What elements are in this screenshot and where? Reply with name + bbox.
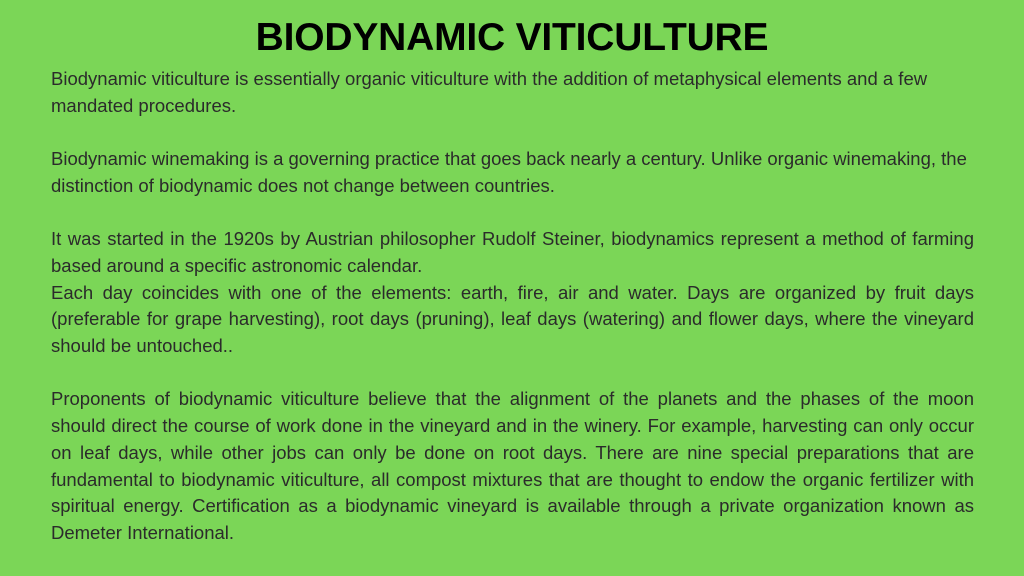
slide-body: Biodynamic viticulture is essentially or… [51, 66, 974, 547]
paragraph-spacer [51, 200, 974, 227]
paragraph-spacer [51, 360, 974, 387]
paragraph-origin: It was started in the 1920s by Austrian … [51, 226, 974, 279]
paragraph-spacer [51, 119, 974, 146]
paragraph-intro: Biodynamic viticulture is essentially or… [51, 66, 974, 119]
paragraph-governing-practice: Biodynamic winemaking is a governing pra… [51, 146, 974, 199]
page-title: BIODYNAMIC VITICULTURE [0, 16, 1024, 60]
paragraph-elements-and-days: Each day coincides with one of the eleme… [51, 280, 974, 360]
slide-canvas: BIODYNAMIC VITICULTURE Biodynamic viticu… [0, 0, 1024, 576]
paragraph-proponents: Proponents of biodynamic viticulture bel… [51, 386, 974, 546]
